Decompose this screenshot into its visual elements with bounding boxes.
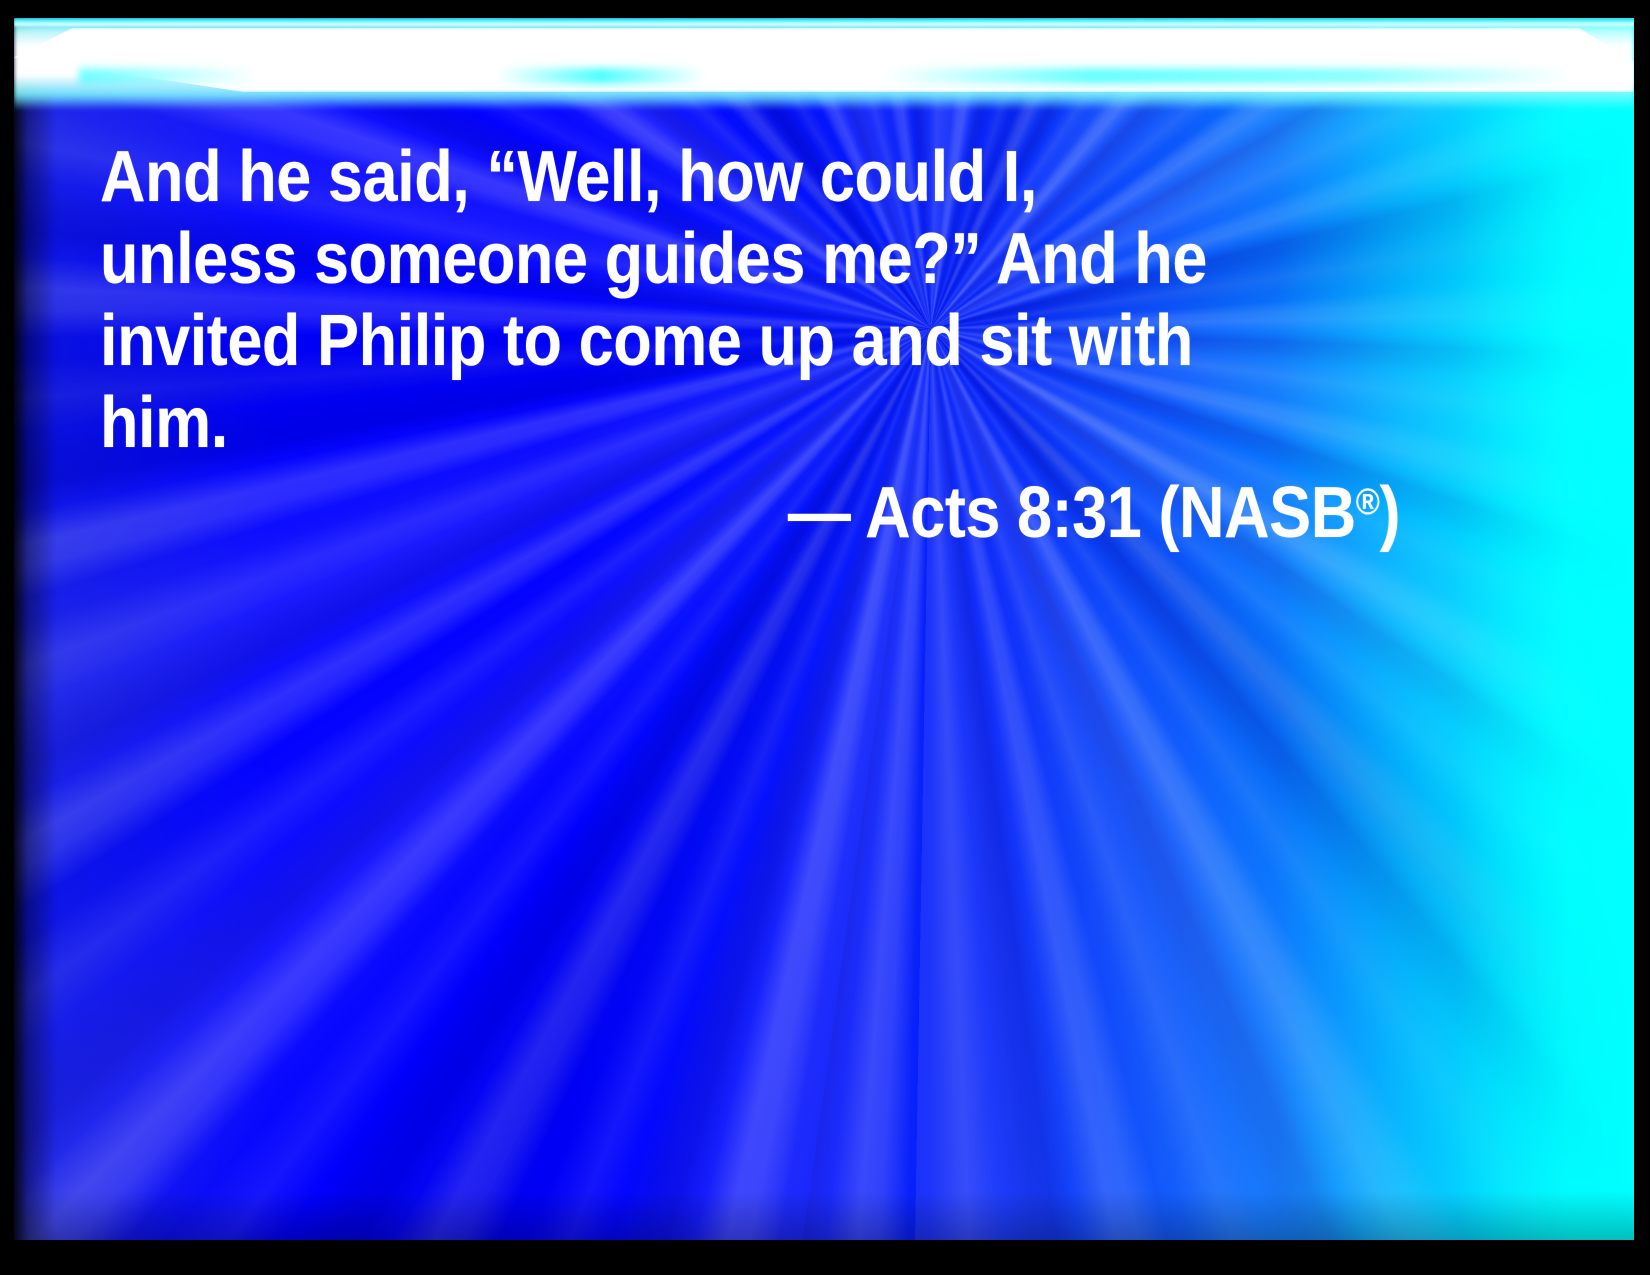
verse-block: And he said, “Well, how could I, unless … (100, 136, 1400, 554)
verse-reference-suffix: ) (1379, 473, 1400, 553)
verse-text: And he said, “Well, how could I, unless … (100, 136, 1238, 464)
registered-trademark-icon: ® (1356, 480, 1380, 522)
header-cyan-streak (79, 68, 1569, 84)
verse-slide: And he said, “Well, how could I, unless … (0, 0, 1650, 1275)
verse-reference-prefix: — Acts 8:31 (NASB (788, 473, 1356, 553)
header-top-edge (14, 18, 1634, 26)
slide-canvas: And he said, “Well, how could I, unless … (14, 18, 1634, 1240)
verse-reference: — Acts 8:31 (NASB®) (263, 464, 1401, 554)
